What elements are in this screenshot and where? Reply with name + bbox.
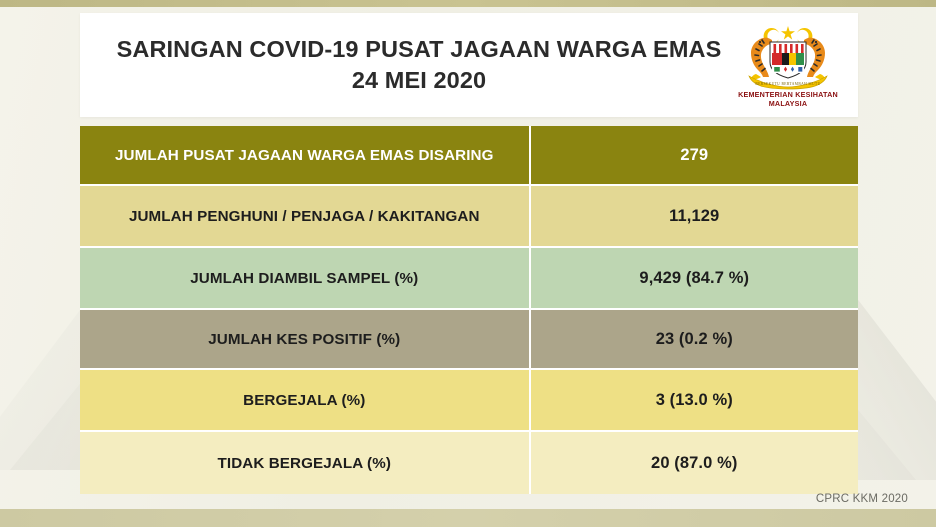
- bottom-accent-bar: [0, 509, 936, 527]
- row-value: 9,429 (84.7 %): [531, 248, 859, 310]
- top-accent-bar: [0, 0, 936, 7]
- footer-credit: CPRC KKM 2020: [816, 493, 908, 505]
- emblem-caption: KEMENTERIAN KESIHATAN MALAYSIA: [738, 91, 838, 108]
- table-row: BERGEJALA (%)3 (13.0 %): [80, 370, 858, 432]
- shield-icon: [770, 42, 806, 78]
- table-row: TIDAK BERGEJALA (%)20 (87.0 %): [80, 432, 858, 494]
- title-line-1: SARINGAN COVID-19 PUSAT JAGAAN WARGA EMA…: [114, 34, 724, 65]
- table-row: JUMLAH DIAMBIL SAMPEL (%)9,429 (84.7 %): [80, 248, 858, 310]
- header-card: SARINGAN COVID-19 PUSAT JAGAAN WARGA EMA…: [80, 13, 858, 117]
- emblem-caption-line-2: MALAYSIA: [769, 99, 807, 108]
- title-line-2: 24 MEI 2020: [114, 65, 724, 96]
- row-value: 11,129: [531, 186, 859, 248]
- row-value: 23 (0.2 %): [531, 310, 859, 370]
- row-value: 20 (87.0 %): [531, 432, 859, 494]
- tiger-right-icon: [804, 38, 825, 80]
- row-value: 3 (13.0 %): [531, 370, 859, 432]
- row-label: JUMLAH PUSAT JAGAAN WARGA EMAS DISARING: [80, 126, 531, 186]
- malaysia-coat-of-arms-icon: BERSEKUTU BERTAMBAH MUTU: [729, 22, 847, 90]
- screening-statistics-table: JUMLAH PUSAT JAGAAN WARGA EMAS DISARING2…: [80, 126, 858, 494]
- table-row: JUMLAH PUSAT JAGAAN WARGA EMAS DISARING2…: [80, 126, 858, 186]
- page-title: SARINGAN COVID-19 PUSAT JAGAAN WARGA EMA…: [80, 34, 724, 96]
- row-label: JUMLAH DIAMBIL SAMPEL (%): [80, 248, 531, 310]
- row-label: BERGEJALA (%): [80, 370, 531, 432]
- ministry-emblem: BERSEKUTU BERTAMBAH MUTU KEMENTERIAN KES…: [724, 22, 852, 108]
- table-body: JUMLAH PUSAT JAGAAN WARGA EMAS DISARING2…: [80, 126, 858, 494]
- row-label: TIDAK BERGEJALA (%): [80, 432, 531, 494]
- row-label: JUMLAH PENGHUNI / PENJAGA / KAKITANGAN: [80, 186, 531, 248]
- table-row: JUMLAH PENGHUNI / PENJAGA / KAKITANGAN11…: [80, 186, 858, 248]
- row-value: 279: [531, 126, 859, 186]
- row-label: JUMLAH KES POSITIF (%): [80, 310, 531, 370]
- table-row: JUMLAH KES POSITIF (%)23 (0.2 %): [80, 310, 858, 370]
- tiger-left-icon: [751, 38, 772, 80]
- svg-text:BERSEKUTU BERTAMBAH MUTU: BERSEKUTU BERTAMBAH MUTU: [755, 82, 820, 86]
